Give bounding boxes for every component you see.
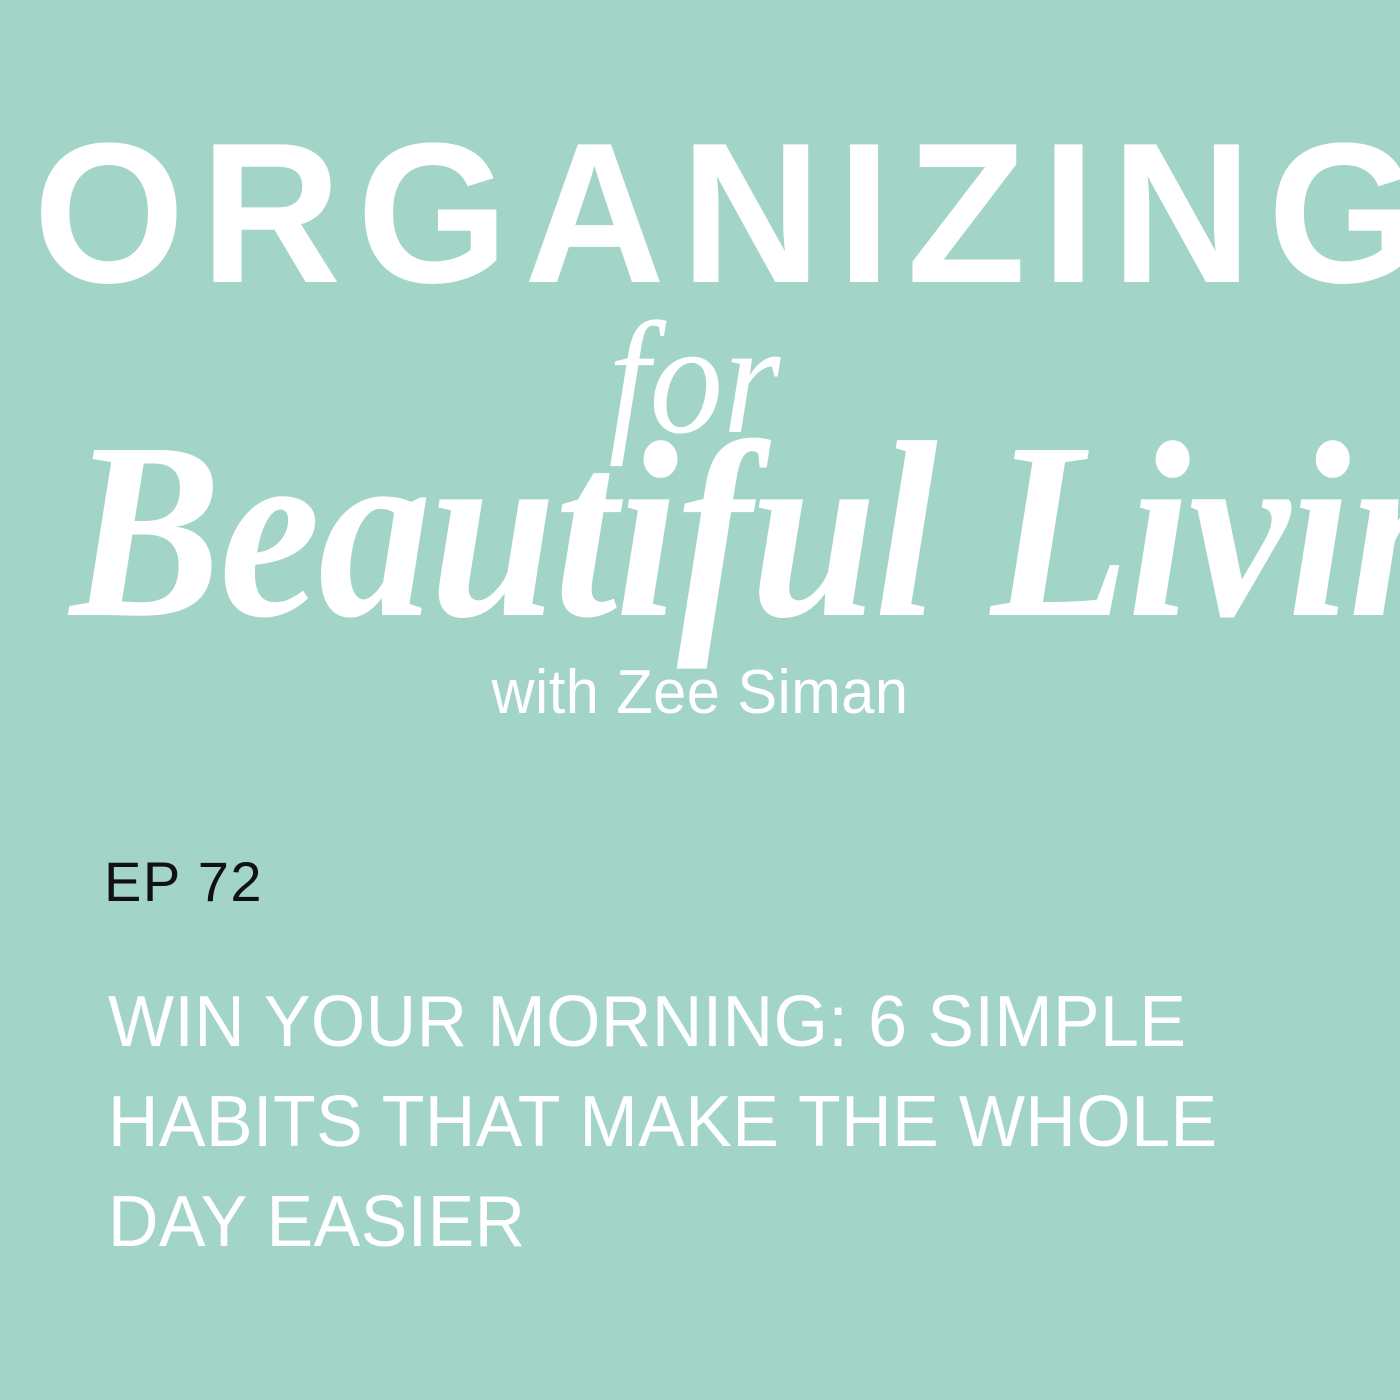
podcast-host-byline: with Zee Siman bbox=[28, 662, 1372, 724]
podcast-cover-art: ORGANIZING for Beautiful Living with Zee… bbox=[0, 0, 1400, 1400]
episode-title-line-2: HABITS THAT MAKE THE WHOLE bbox=[108, 1072, 1340, 1172]
episode-number-label: EP 72 bbox=[104, 854, 263, 910]
episode-title-line-3: DAY EASIER bbox=[108, 1172, 1340, 1272]
podcast-title-organizing: ORGANIZING bbox=[18, 114, 1383, 314]
podcast-title-beautiful-living: Beautiful Living bbox=[70, 404, 1330, 656]
episode-title-line-1: WIN YOUR MORNING: 6 SIMPLE bbox=[108, 972, 1340, 1072]
episode-title: WIN YOUR MORNING: 6 SIMPLE HABITS THAT M… bbox=[108, 972, 1378, 1272]
